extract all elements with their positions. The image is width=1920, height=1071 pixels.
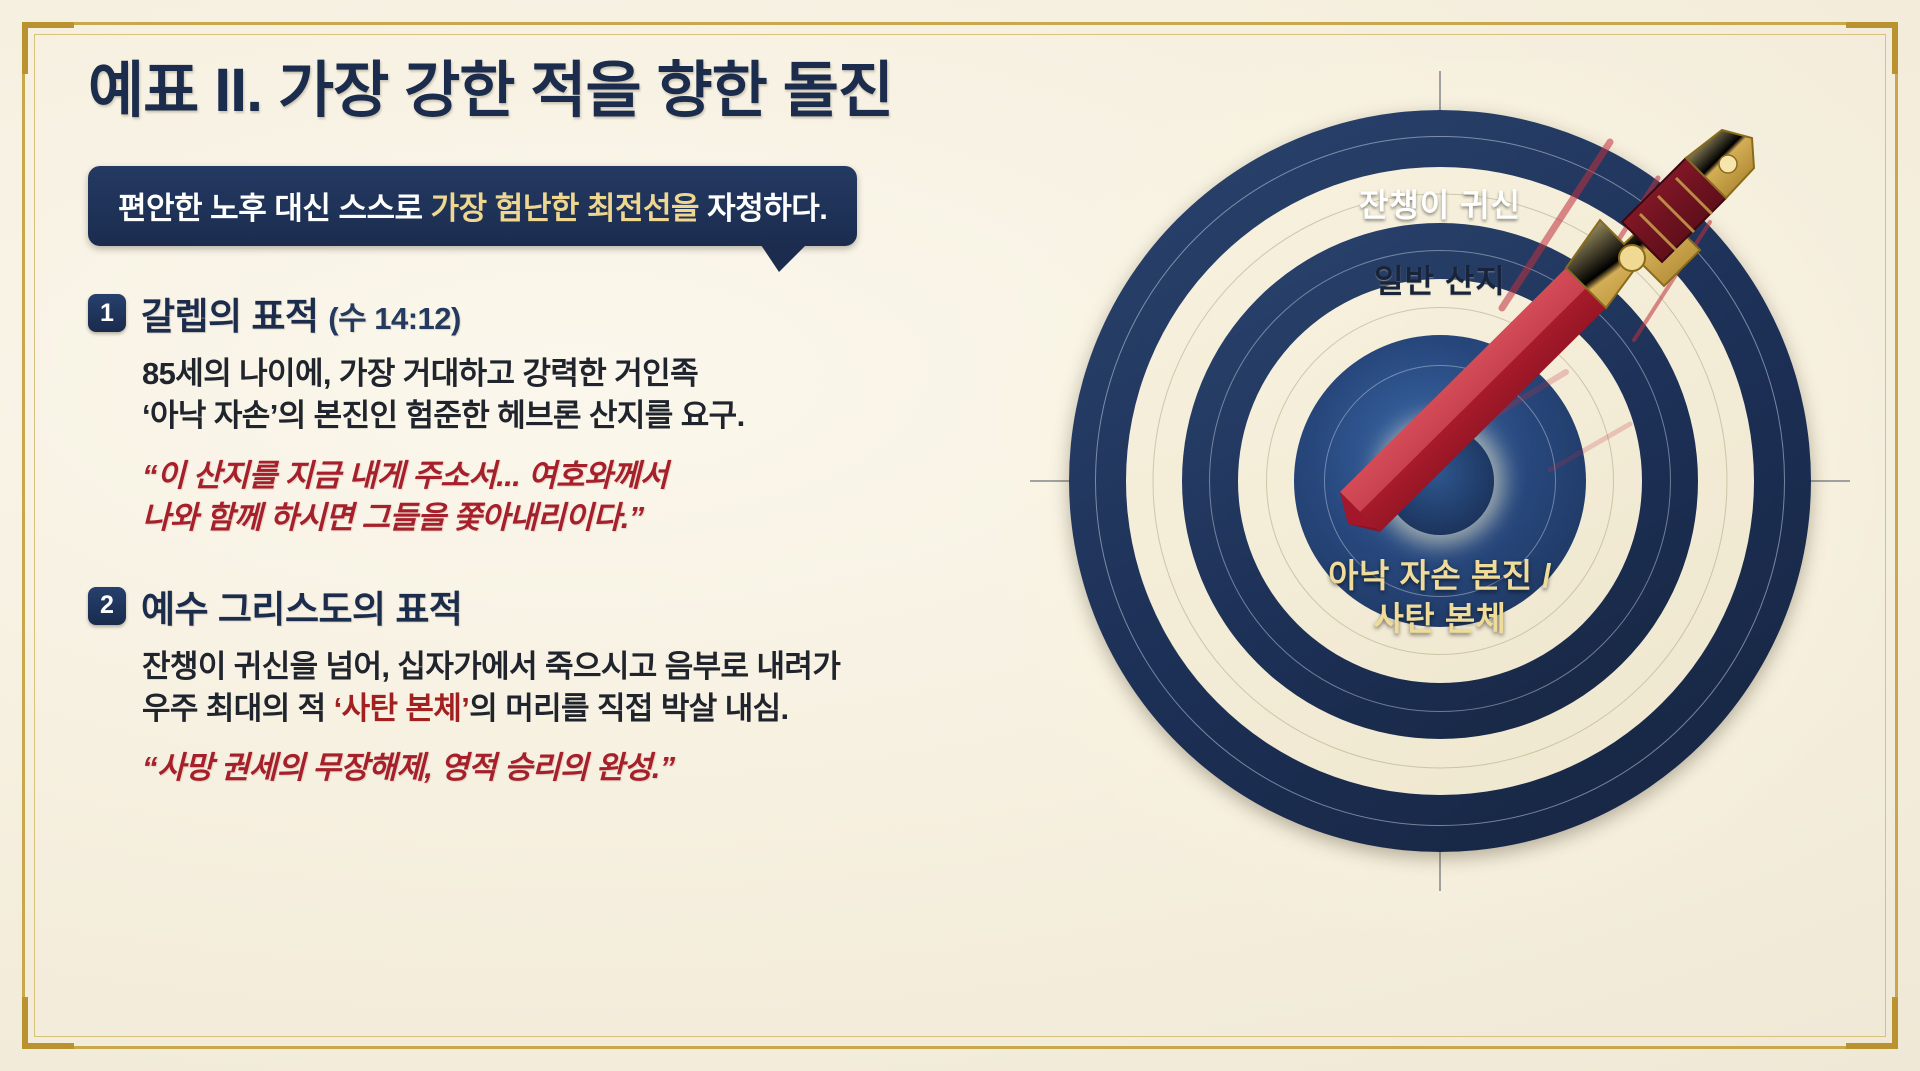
target-center-label-line-1: 아낙 자손 본진 / [1328, 555, 1552, 598]
target-center-label-line-2: 사탄 본체 [1328, 598, 1552, 641]
item-1-body-line-1: 85세의 나이에, 가장 거대하고 강력한 거인족 [142, 353, 1078, 395]
list-item: 2 예수 그리스도의 표적 잔챙이 귀신을 넘어, 십자가에서 죽으시고 음부로… [88, 579, 1078, 789]
content-column: 예표 II. 가장 강한 적을 향한 돌진 편안한 노후 대신 스스로 가장 험… [88, 56, 1078, 789]
corner-ornament-top-left [22, 22, 74, 74]
item-1-quote-line-1: “이 산지를 지금 내게 주소서... 여호와께서 [142, 455, 1078, 497]
item-1-number-badge: 1 [88, 294, 126, 332]
item-2-quote-line-1: “사망 권세의 무장해제, 영적 승리의 완성.” [142, 747, 1078, 789]
item-2-title-text: 예수 그리스도의 표적 [141, 589, 462, 630]
item-1-body-line-2: ‘아낙 자손’의 본진인 험준한 헤브론 산지를 요구. [142, 395, 1078, 437]
item-2-quote: “사망 권세의 무장해제, 영적 승리의 완성.” [142, 747, 1078, 789]
item-1-title: 갈렙의 표적 (수 14:12) [141, 286, 461, 340]
target-second-ring-label: 일반 산지 [1374, 256, 1506, 302]
item-1-header: 1 갈렙의 표적 (수 14:12) [88, 286, 1078, 340]
item-2-body-line-2: 우주 최대의 적 ‘사탄 본체’의 머리를 직접 박살 내심. [142, 688, 1078, 730]
target-center-label: 아낙 자손 본진 / 사탄 본체 [1328, 555, 1552, 641]
item-1-quote: “이 산지를 지금 내게 주소서... 여호와께서 나와 함께 하시면 그들을 … [142, 455, 1078, 539]
target-diagram: 잔챙이 귀신 일반 산지 아낙 자손 본진 / 사탄 본체 [1010, 72, 1870, 942]
item-2-body-line-1: 잔챙이 귀신을 넘어, 십자가에서 죽으시고 음부로 내려가 [142, 646, 1078, 688]
item-2-body-line-2-post: 의 머리를 직접 박살 내심. [469, 691, 788, 726]
item-1-reference: (수 14:12) [328, 301, 461, 336]
callout-highlight: 가장 험난한 최전선을 [431, 191, 699, 226]
item-2-title: 예수 그리스도의 표적 [141, 579, 462, 633]
callout-text: 편안한 노후 대신 스스로 가장 험난한 최전선을 자청하다. [88, 166, 857, 246]
item-2-body: 잔챙이 귀신을 넘어, 십자가에서 죽으시고 음부로 내려가 우주 최대의 적 … [142, 646, 1078, 730]
item-1-title-text: 갈렙의 표적 [141, 296, 318, 337]
callout-lead: 편안한 노후 대신 스스로 [118, 191, 431, 226]
list-item: 1 갈렙의 표적 (수 14:12) 85세의 나이에, 가장 거대하고 강력한… [88, 286, 1078, 539]
callout-pointer [759, 242, 809, 272]
item-2-body-line-2-emphasis: ‘사탄 본체’ [334, 691, 470, 726]
corner-ornament-bottom-right [1846, 997, 1898, 1049]
slide-root: 예표 II. 가장 강한 적을 향한 돌진 편안한 노후 대신 스스로 가장 험… [0, 0, 1920, 1071]
item-1-body: 85세의 나이에, 가장 거대하고 강력한 거인족 ‘아낙 자손’의 본진인 험… [142, 353, 1078, 437]
item-2-number-badge: 2 [88, 587, 126, 625]
callout-tail-text: 자청하다. [699, 191, 827, 226]
corner-ornament-bottom-left [22, 997, 74, 1049]
callout-bubble: 편안한 노후 대신 스스로 가장 험난한 최전선을 자청하다. [88, 166, 857, 246]
item-2-body-line-2-pre: 우주 최대의 적 [142, 691, 334, 726]
item-2-header: 2 예수 그리스도의 표적 [88, 579, 1078, 633]
target-outer-ring-label: 잔챙이 귀신 [1359, 180, 1521, 226]
item-1-quote-line-2: 나와 함께 하시면 그들을 쫓아내리이다.” [142, 497, 1078, 539]
page-title: 예표 II. 가장 강한 적을 향한 돌진 [88, 56, 1078, 124]
